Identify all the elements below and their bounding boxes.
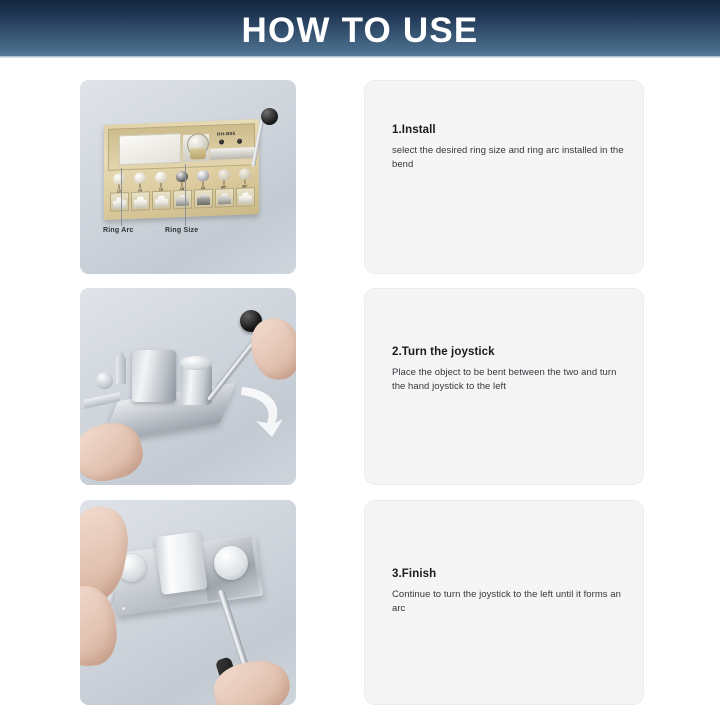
die-slot: [110, 192, 129, 212]
die-slot: [173, 190, 192, 210]
step-1-title: 1.Install: [392, 124, 625, 136]
die-slot: [236, 187, 255, 207]
callout-label-ring-size: Ring Size: [165, 227, 198, 234]
die-slot: [194, 189, 213, 209]
step-2-body: Place the object to be bent between the …: [392, 366, 625, 394]
machine-top-plate: HH-B05: [108, 123, 255, 171]
dial-peg: 22: [196, 170, 210, 191]
plate-screw-icon: [253, 588, 258, 593]
dial-peg: 18: [175, 171, 189, 192]
callout-leader-line-ring-size: [185, 164, 186, 226]
callout-label-ring-arc: Ring Arc: [103, 227, 134, 234]
step-2-card-content: 2.Turn the joystick Place the object to …: [392, 346, 625, 394]
dial-peg: 90°: [217, 169, 231, 190]
dial-peg: 14: [133, 172, 147, 193]
step-row-3: 3.Finish Continue to turn the joystick t…: [0, 500, 720, 705]
callout-leader-line-ring-arc: [121, 168, 122, 226]
plate-screw-icon: [246, 539, 251, 544]
machine-screw-hole-2-icon: [237, 139, 242, 144]
step-1-photo: HH-B05 12 14: [80, 80, 296, 274]
machine-right-disc: [214, 546, 248, 580]
machine-die-slots: [108, 187, 258, 215]
machine-lever-knob: [261, 108, 278, 125]
peg-cap: [218, 169, 230, 180]
machine-white-block: [119, 133, 181, 165]
step-1-card-content: 1.Install select the desired ring size a…: [392, 124, 625, 172]
peg-cap: [134, 172, 146, 183]
step-1-card: 1.Install select the desired ring size a…: [364, 80, 644, 274]
step-3-card-content: 3.Finish Continue to turn the joystick t…: [392, 568, 625, 616]
machine-roller: [154, 531, 208, 595]
step-3-photo: [80, 500, 296, 705]
machine-hub-base: [190, 148, 206, 160]
step-3-card: 3.Finish Continue to turn the joystick t…: [364, 500, 644, 705]
step-3-title: 3.Finish: [392, 568, 625, 580]
dial-peg: 40°: [238, 168, 252, 189]
rotation-arrow-icon: [236, 383, 288, 439]
step-1-body: select the desired ring size and ring ar…: [392, 144, 625, 172]
peg-cap: [155, 172, 167, 183]
step-2-title: 2.Turn the joystick: [392, 346, 625, 358]
peg-cap: [239, 168, 251, 179]
step-row-2: 2.Turn the joystick Place the object to …: [0, 288, 720, 485]
step-2-card: 2.Turn the joystick Place the object to …: [364, 288, 644, 485]
step-2-photo: [80, 288, 296, 485]
machine-screw-hole-1-icon: [219, 139, 224, 144]
header-divider: [0, 56, 720, 58]
machine-cylinder-top: [180, 356, 212, 370]
machine-model-code: HH-B05: [217, 131, 235, 137]
die-slot: [152, 190, 171, 210]
how-to-use-page: HOW TO USE HH-B05: [0, 0, 720, 720]
die-slot: [131, 191, 150, 211]
gold-machine-body: HH-B05 12 14: [104, 119, 259, 220]
machine-boss-knob: [96, 372, 113, 389]
die-slot: [215, 188, 234, 208]
step-row-1: HH-B05 12 14: [0, 80, 720, 274]
machine-drum: [132, 350, 176, 402]
machine-steel-rail: [210, 147, 255, 160]
peg-cap: [176, 171, 188, 182]
peg-cap: [197, 170, 209, 181]
page-header-banner: HOW TO USE: [0, 0, 720, 58]
step-3-body: Continue to turn the joystick to the lef…: [392, 588, 625, 616]
plate-screw-icon: [122, 607, 127, 612]
dial-peg: 12: [112, 173, 126, 194]
page-title: HOW TO USE: [242, 13, 479, 48]
dial-peg: 16: [154, 172, 168, 193]
peg-cap: [113, 173, 125, 184]
